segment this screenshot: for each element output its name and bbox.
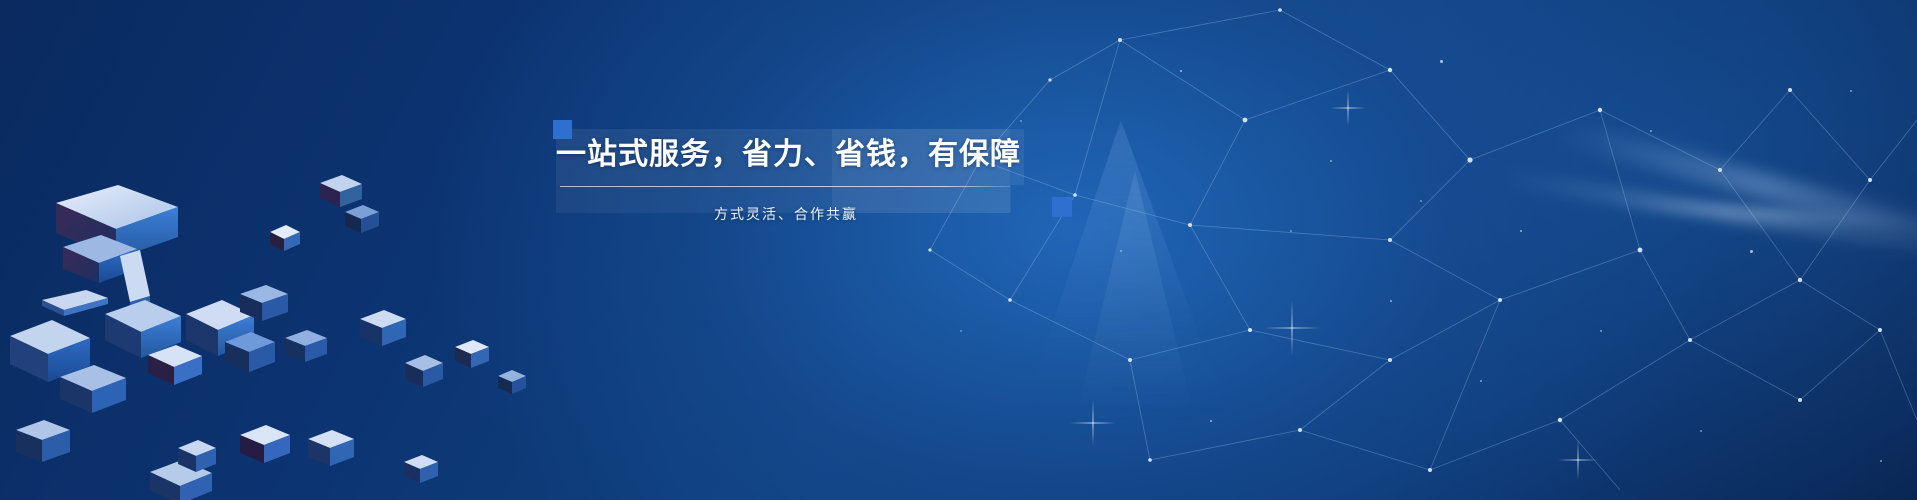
accent-square-right [1052, 197, 1072, 217]
page-title: 一站式服务，省力、省钱，有保障 [556, 134, 1026, 176]
hero-banner: 一站式服务，省力、省钱，有保障 方式灵活、合作共赢 [0, 0, 1917, 500]
page-subtitle: 方式灵活、合作共赢 [556, 202, 1016, 226]
title-divider [560, 186, 1010, 187]
hero-content: 一站式服务，省力、省钱，有保障 方式灵活、合作共赢 [0, 0, 1917, 500]
